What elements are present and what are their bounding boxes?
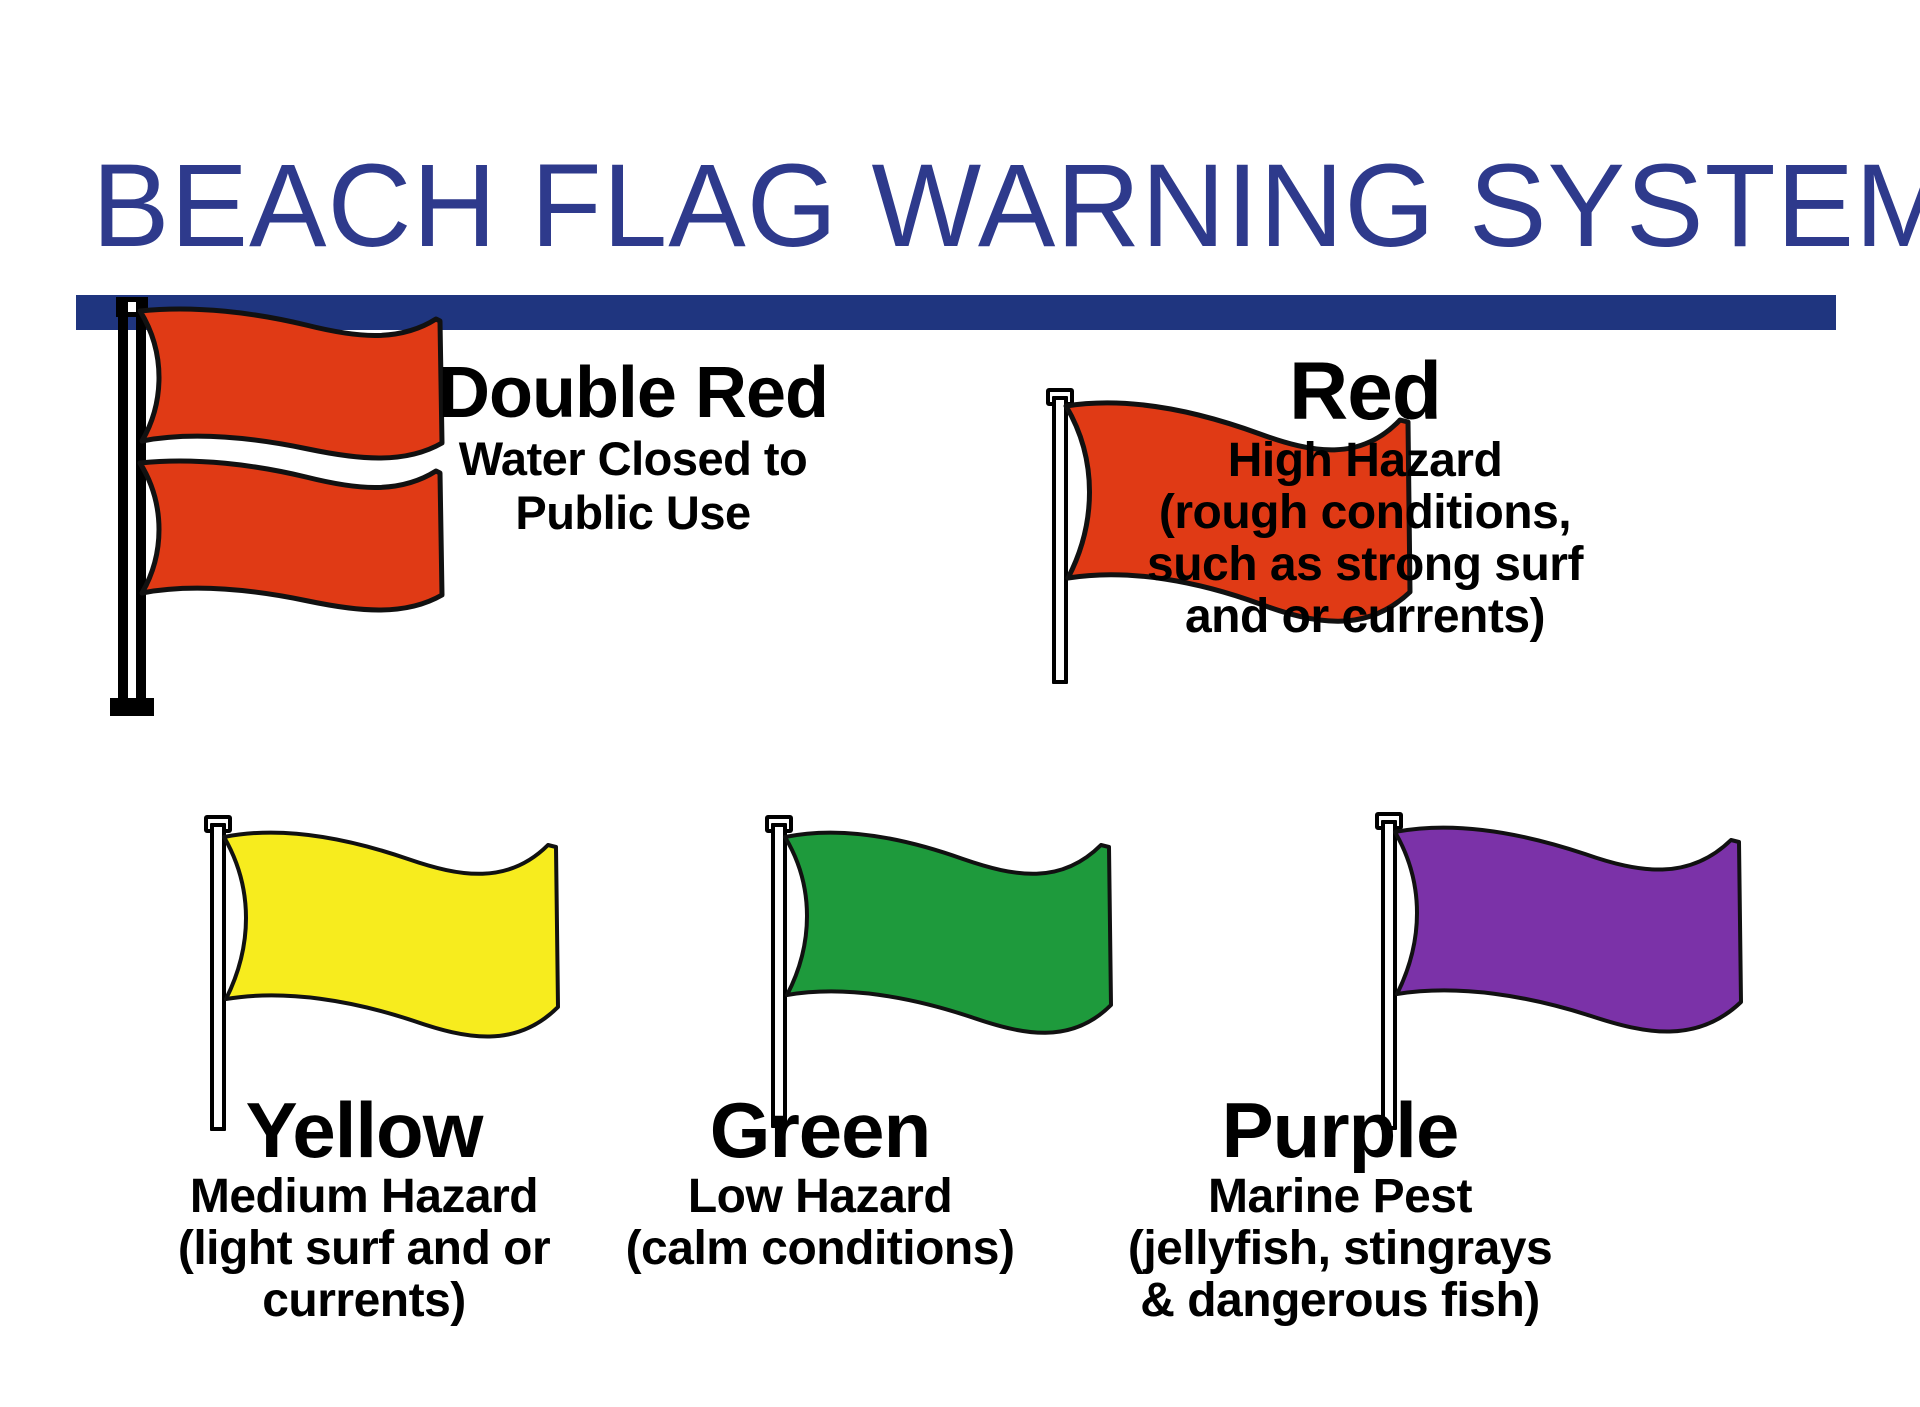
caption-purple: Purple Marine Pest (jellyfish, stingrays… — [1090, 1090, 1590, 1326]
purple-flag-icon — [1389, 820, 1749, 1050]
flag-desc-purple-line-1: Marine Pest — [1090, 1172, 1590, 1222]
flag-desc-purple-line-2: (jellyfish, stingrays — [1090, 1224, 1590, 1274]
flag-desc-purple-line-3: & dangerous fish) — [1090, 1276, 1590, 1326]
flag-group-purple: Purple Marine Pest (jellyfish, stingrays… — [0, 0, 1920, 1407]
flag-title-purple: Purple — [1090, 1090, 1590, 1170]
